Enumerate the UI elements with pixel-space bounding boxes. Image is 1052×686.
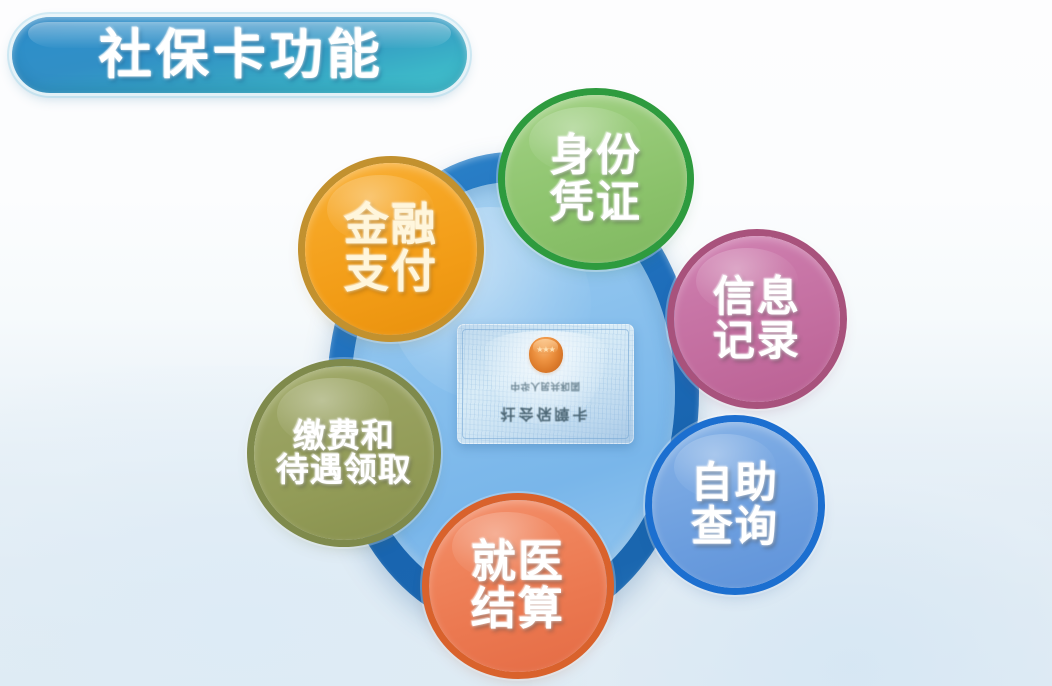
bubble-label-line1-payment-benefit: 缴费和 bbox=[293, 419, 395, 453]
bubble-label-line1-self-service: 自助 bbox=[691, 461, 779, 505]
function-bubble-info-record[interactable]: 信息 记录 bbox=[674, 236, 840, 402]
function-bubble-medical-settlement[interactable]: 就医 结算 bbox=[429, 500, 607, 672]
emblem-stars: ★★★ bbox=[529, 346, 563, 354]
page-title: 社保卡功能 bbox=[95, 29, 384, 82]
bubble-label-line2-medical-settlement: 结算 bbox=[471, 586, 565, 633]
bubble-label-line2-payment-benefit: 待遇领取 bbox=[276, 453, 412, 487]
bubble-label-line1-financial-payment: 金融 bbox=[344, 202, 438, 249]
bubble-label-line2-financial-payment: 支付 bbox=[344, 249, 438, 296]
infographic-canvas: 社保卡功能 ★★★ 中华人民共和国 社会保障卡 身份 凭证 信息 记录 自助 查… bbox=[0, 0, 1052, 686]
social-security-card: ★★★ 中华人民共和国 社会保障卡 bbox=[457, 324, 634, 444]
card-title-text: 社会保障卡 bbox=[457, 404, 634, 425]
function-bubble-identity[interactable]: 身份 凭证 bbox=[505, 95, 687, 263]
function-bubble-payment-benefit[interactable]: 缴费和 待遇领取 bbox=[254, 366, 434, 540]
page-title-badge: 社保卡功能 bbox=[12, 17, 467, 93]
function-bubble-self-service[interactable]: 自助 查询 bbox=[652, 422, 818, 588]
bubble-label-line2-info-record: 记录 bbox=[713, 319, 801, 363]
bubble-label-line1-medical-settlement: 就医 bbox=[471, 539, 565, 586]
national-emblem-icon: ★★★ bbox=[529, 337, 563, 373]
bubble-label-line1-identity: 身份 bbox=[550, 132, 642, 179]
function-bubble-financial-payment[interactable]: 金融 支付 bbox=[305, 163, 477, 335]
bubble-label-line2-identity: 凭证 bbox=[550, 179, 642, 226]
bubble-label-line2-self-service: 查询 bbox=[691, 505, 779, 549]
bubble-label-line1-info-record: 信息 bbox=[713, 275, 801, 319]
card-country-text: 中华人民共和国 bbox=[457, 380, 634, 394]
